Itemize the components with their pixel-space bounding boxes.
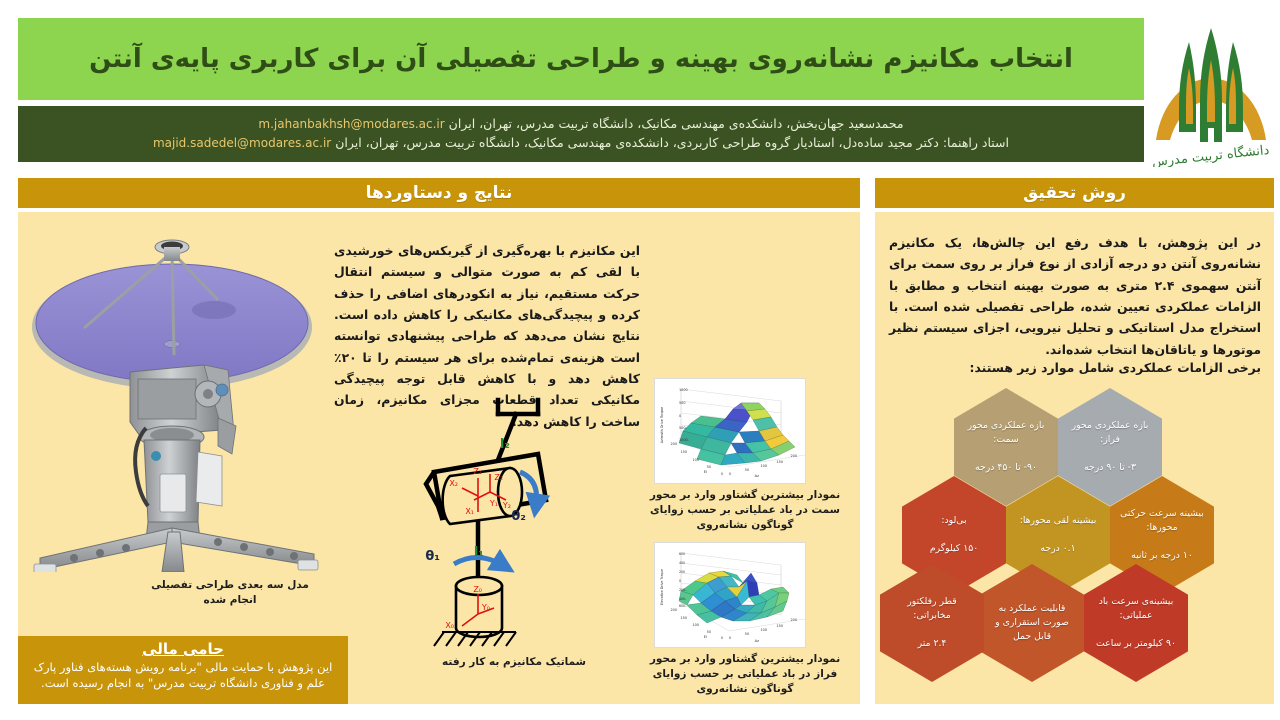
svg-text:50: 50 (745, 632, 749, 636)
svg-text:200: 200 (679, 570, 685, 574)
authors-bar: محمدسعید جهان‌بخش، دانشکده‌ی مهندسی مکان… (18, 106, 1144, 162)
chart1-caption: نمودار بیشترین گشتاور وارد بر محور سمت د… (645, 488, 845, 534)
svg-text:400: 400 (679, 561, 685, 565)
svg-text:200: 200 (671, 608, 677, 612)
svg-text:0: 0 (679, 579, 681, 583)
svg-text:50: 50 (707, 465, 711, 469)
svg-text:150: 150 (681, 450, 687, 454)
azimuth-torque-chart: 1000500 0-500-1000 200150 100500 050 100… (654, 378, 806, 484)
chart2-ylabel: Az (755, 639, 759, 643)
requirement-hex-text: بیشینه سرعت حرکتی محورها:۱۰ درجه بر ثانی… (1118, 507, 1206, 563)
university-logo: دانشگاه تربیت مدرس (1148, 12, 1274, 167)
section-header-results: نتایج و دستاوردها (18, 178, 860, 208)
mechanism-schematic-figure: Z₁Z₂ X₂X₁ Y₁Y₂ Z₀Y₀X₀ l₂ l₁ θ₂ θ₁ (398, 388, 630, 656)
svg-text:0: 0 (721, 472, 723, 476)
svg-text:Y₂: Y₂ (502, 501, 511, 510)
svg-text:Z₁: Z₁ (473, 467, 482, 476)
svg-text:-600: -600 (679, 604, 686, 608)
svg-text:50: 50 (745, 468, 749, 472)
poster-root: انتخاب مکانیزم نشانه‌روی بهینه و طراحی ت… (0, 0, 1280, 720)
page-title: انتخاب مکانیزم نشانه‌روی بهینه و طراحی ت… (89, 43, 1073, 76)
svg-text:-200: -200 (679, 588, 686, 592)
svg-text:-1000: -1000 (679, 438, 690, 442)
chart2-zlabel: Elevation Drive Torque (660, 569, 664, 605)
poster-title-bar: انتخاب مکانیزم نشانه‌روی بهینه و طراحی ت… (18, 18, 1144, 100)
label-theta2: θ₂ (511, 509, 526, 524)
svg-text:Z₀: Z₀ (473, 585, 482, 594)
chart1-ylabel: Az (755, 474, 759, 478)
author-2-email[interactable]: majid.sadedel@modares.ac.ir (153, 136, 331, 150)
requirement-hex-text: بی‌لود:۱۵۰ کیلوگرم (930, 514, 978, 556)
svg-text:1000: 1000 (679, 388, 688, 392)
author-2-affiliation: استاد راهنما: دکتر مجید ساده‌دل، استادیا… (335, 135, 1009, 150)
svg-text:Y₁: Y₁ (489, 499, 498, 508)
antenna-cad-figure (22, 222, 322, 572)
requirement-hex-text: بیشینه‌ی سرعت باد عملیاتی:۹۰ کیلومتر بر … (1092, 595, 1180, 651)
logo-stem-icon (1200, 128, 1222, 142)
method-paragraph: در این پژوهش، با هدف رفع این چالش‌ها، یک… (889, 232, 1261, 360)
svg-text:100: 100 (761, 464, 767, 468)
svg-text:200: 200 (791, 618, 797, 622)
logo-wordmark: دانشگاه تربیت مدرس (1151, 142, 1270, 167)
svg-text:Y₀: Y₀ (481, 603, 490, 612)
svg-text:150: 150 (777, 460, 783, 464)
svg-text:X₀: X₀ (445, 621, 454, 630)
svg-text:0: 0 (729, 636, 731, 640)
author-line-1: محمدسعید جهان‌بخش، دانشکده‌ی مهندسی مکان… (32, 115, 1130, 134)
svg-text:100: 100 (693, 623, 699, 627)
schematic-caption: شماتیک مکانیزم به کار رفته (398, 655, 630, 670)
method-requirements-lead: برخی الزامات عملکردی شامل موارد زیر هستن… (889, 358, 1261, 378)
requirement-hex-text: بازه عملکردی محور سمت:۹۰- تا ۴۵۰ درجه (962, 419, 1050, 475)
azimuth-column-icon (135, 426, 222, 522)
requirement-hex-text: بیشینه لقی محورها:۰.۱ درجه (1020, 514, 1097, 556)
svg-text:0: 0 (679, 414, 681, 418)
svg-text:600: 600 (679, 552, 685, 556)
requirement-hex-text: قابلیت عملکرد به صورت استقراری و قابل حم… (988, 602, 1076, 644)
author-1-affiliation: محمدسعید جهان‌بخش، دانشکده‌ی مهندسی مکان… (449, 116, 904, 131)
chart1-zlabel: Azimuth Drive Torque (660, 407, 664, 443)
label-theta1: θ₁ (425, 549, 440, 564)
svg-text:X₂: X₂ (449, 479, 458, 488)
sponsor-body: این پژوهش با حمایت مالی "برنامه رویش هست… (28, 660, 338, 691)
author-line-2: استاد راهنما: دکتر مجید ساده‌دل، استادیا… (32, 134, 1130, 153)
svg-text:500: 500 (679, 401, 685, 405)
author-1-email[interactable]: m.jahanbakhsh@modares.ac.ir (258, 117, 444, 131)
svg-text:Z₂: Z₂ (494, 473, 503, 482)
chart2-caption: نمودار بیشترین گشتاور وارد بر محور فراز … (645, 652, 845, 698)
sponsor-box: حامی مالی این پژوهش با حمایت مالی "برنام… (18, 636, 348, 704)
svg-text:-400: -400 (679, 597, 686, 601)
svg-text:0: 0 (721, 636, 723, 640)
chart2-xlabel: El (704, 635, 707, 639)
feed-horn-icon (155, 240, 189, 261)
label-l2: l₂ (500, 437, 510, 452)
svg-text:150: 150 (777, 624, 783, 628)
svg-text:100: 100 (693, 458, 699, 462)
antenna-figure-caption: مدل سه بعدی طراحی تفصیلی انجام شده (140, 578, 320, 608)
svg-text:200: 200 (671, 442, 677, 446)
chart1-xlabel: El (704, 470, 707, 474)
svg-text:0: 0 (729, 472, 731, 476)
svg-text:100: 100 (761, 628, 767, 632)
section-header-results-label: نتایج و دستاوردها (366, 183, 513, 203)
svg-text:-500: -500 (679, 426, 687, 430)
svg-text:200: 200 (791, 454, 797, 458)
requirements-hexagon-field: بازه عملکردی محور فراز:۳- تا ۹۰ درجهبازه… (880, 388, 1274, 700)
section-header-method: روش تحقیق (875, 178, 1274, 208)
svg-text:X₁: X₁ (465, 507, 474, 516)
svg-text:150: 150 (681, 616, 687, 620)
requirement-hex-text: قطر رفلکتور مخابراتی:۲.۴ متر (888, 595, 976, 651)
elevation-torque-chart: 600400 2000 -200-400-600 200150 100500 0… (654, 542, 806, 648)
tripod-base-icon (34, 522, 318, 572)
requirement-hex-text: بازه عملکردی محور فراز:۳- تا ۹۰ درجه (1066, 419, 1154, 475)
svg-text:50: 50 (707, 630, 711, 634)
section-header-method-label: روش تحقیق (1023, 183, 1126, 203)
label-l1: l₁ (474, 545, 484, 560)
sponsor-title: حامی مالی (28, 640, 338, 658)
